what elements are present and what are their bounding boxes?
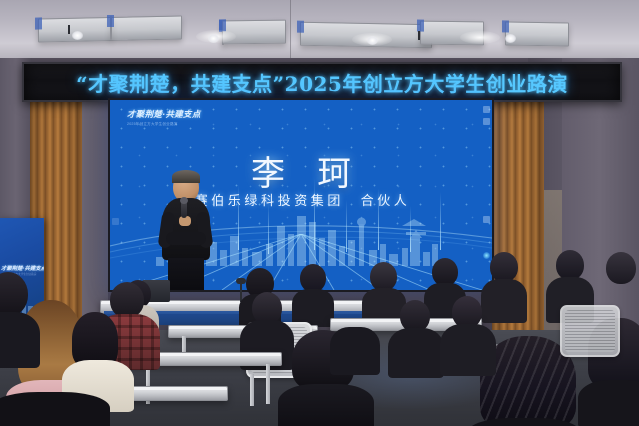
ceiling-sensor: [68, 25, 70, 34]
presenter-forearms: [166, 232, 206, 245]
standee-logo-text: 才聚荆楚·共建支点: [1, 264, 44, 272]
person-body: [481, 279, 527, 323]
slide-logo-main-text: 才聚荆楚·共建支点: [127, 108, 227, 120]
screen-control-icon[interactable]: [483, 118, 490, 125]
ceiling-seam: [290, 0, 291, 60]
person-head: [300, 264, 326, 292]
person-head: [370, 262, 397, 291]
presenter-hair: [172, 170, 200, 183]
person-body: [330, 327, 380, 375]
chair-mesh: [565, 310, 615, 352]
person-head: [110, 282, 144, 318]
chair-leg: [250, 374, 254, 406]
desk-leg: [266, 364, 270, 404]
downlight: [208, 34, 219, 43]
person-body: [388, 328, 444, 378]
screen-control-icon-left[interactable]: [112, 218, 119, 225]
person-head: [432, 258, 458, 286]
downlight: [505, 34, 516, 43]
person-body: [440, 324, 496, 376]
person-head: [490, 252, 518, 282]
slide-logo: 才聚荆楚·共建支点 2025年创立方大学生创业路演: [127, 108, 227, 127]
ceiling-light-fixture: [110, 16, 112, 40]
person-body: [0, 312, 40, 368]
ceiling-sensor: [418, 31, 420, 40]
person-body: [278, 384, 374, 426]
conference-room-photo: “才聚荆楚，共建支点”2025年创立方大学生创业路演 才聚荆楚·共建支点 202…: [0, 0, 639, 426]
downlight: [72, 31, 83, 40]
ceiling-light-fixture: [505, 21, 569, 46]
table-microphone-head-icon: [236, 278, 246, 284]
presenter: [160, 172, 212, 288]
person-body: [578, 380, 639, 426]
person-head: [340, 300, 368, 330]
screen-status-dot: [483, 252, 490, 259]
chair[interactable]: [560, 305, 620, 357]
downlight: [367, 36, 378, 45]
slide-logo-sub-text: 2025年创立方大学生创业路演: [127, 122, 227, 127]
presenter-legs: [168, 258, 204, 290]
audience-member-foreground: [0, 392, 110, 426]
led-banner: “才聚荆楚，共建支点”2025年创立方大学生创业路演: [22, 62, 622, 102]
light-glow: [460, 31, 500, 44]
person-head: [556, 250, 584, 280]
screen-back-icon[interactable]: [483, 216, 490, 223]
screen-control-icon[interactable]: [483, 106, 490, 113]
led-banner-text: “才聚荆楚，共建支点”2025年创立方大学生创业路演: [76, 68, 568, 97]
microphone-head-icon: [180, 197, 188, 204]
person-head: [606, 252, 636, 284]
